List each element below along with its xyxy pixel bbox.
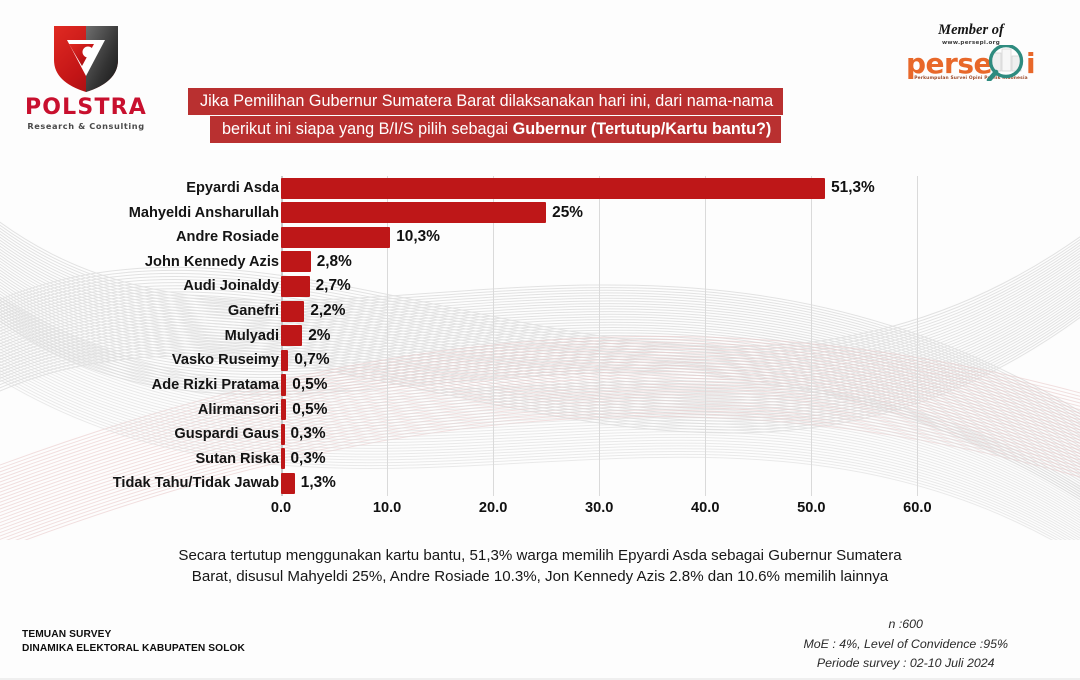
bar-row[interactable]: Tidak Tahu/Tidak Jawab1,3%	[281, 471, 981, 496]
persepi-logo-icon: perse i	[882, 45, 1060, 81]
bar-value-label: 0,5%	[292, 373, 327, 398]
summary-line-2: Barat, disusul Mahyeldi 25%, Andre Rosia…	[0, 566, 1080, 587]
bar-value-label: 0,5%	[292, 398, 327, 423]
bar[interactable]	[281, 473, 295, 494]
x-axis-tick-label: 30.0	[585, 500, 613, 516]
category-label: Andre Rosiade	[19, 225, 279, 250]
x-axis-tick-label: 60.0	[903, 500, 931, 516]
footer-margin-of-error: MoE : 4%, Level of Convidence :95%	[803, 635, 1008, 655]
footer-survey-title: TEMUAN SURVEY DINAMIKA ELEKTORAL KABUPAT…	[22, 628, 245, 657]
bar[interactable]	[281, 325, 302, 346]
persepi-member-badge: Member of www.persepi.org perse i Perkum…	[882, 22, 1060, 81]
bar[interactable]	[281, 276, 310, 297]
category-label: Mulyadi	[19, 324, 279, 349]
bar-row[interactable]: Sutan Riska0,3%	[281, 447, 981, 472]
bar-row[interactable]: Andre Rosiade10,3%	[281, 225, 981, 250]
bar-value-label: 2,7%	[316, 274, 351, 299]
bar[interactable]	[281, 202, 546, 223]
bar-row[interactable]: Mulyadi2%	[281, 324, 981, 349]
bar[interactable]	[281, 424, 285, 445]
member-of-label: Member of	[882, 22, 1060, 39]
x-axis-tick-label: 0.0	[271, 500, 291, 516]
category-label: Guspardi Gaus	[19, 422, 279, 447]
x-axis: 0.010.020.030.040.050.060.0	[281, 496, 981, 526]
footer-survey-title-line-1: TEMUAN SURVEY	[22, 628, 245, 642]
bar[interactable]	[281, 178, 825, 199]
bar-row[interactable]: Mahyeldi Ansharullah25%	[281, 201, 981, 226]
bar-value-label: 2%	[308, 324, 330, 349]
chart-title-banner: Jika Pemilihan Gubernur Sumatera Barat d…	[188, 88, 900, 143]
footer-survey-title-line-2: DINAMIKA ELEKTORAL KABUPATEN SOLOK	[22, 642, 245, 656]
title-line-2: berikut ini siapa yang B/I/S pilih sebag…	[210, 116, 781, 143]
category-label: John Kennedy Azis	[19, 250, 279, 275]
bar-value-label: 51,3%	[831, 176, 875, 201]
polstra-logo: POLSTRA Research & Consulting	[22, 18, 150, 126]
x-axis-tick-label: 50.0	[797, 500, 825, 516]
bar-value-label: 0,7%	[294, 348, 329, 373]
footer-survey-period: Periode survey : 02-10 Juli 2024	[803, 654, 1008, 674]
bar[interactable]	[281, 301, 304, 322]
x-axis-tick-label: 10.0	[373, 500, 401, 516]
bar-row[interactable]: Vasko Ruseimy0,7%	[281, 348, 981, 373]
category-label: Vasko Ruseimy	[19, 348, 279, 373]
bar-value-label: 25%	[552, 201, 583, 226]
bar-value-label: 0,3%	[291, 422, 326, 447]
bar-row[interactable]: Ganefri2,2%	[281, 299, 981, 324]
bar-row[interactable]: Guspardi Gaus0,3%	[281, 422, 981, 447]
bar[interactable]	[281, 251, 311, 272]
bar-row[interactable]: John Kennedy Azis2,8%	[281, 250, 981, 275]
category-label: Audi Joinaldy	[19, 274, 279, 299]
footer-sample-size: n :600	[803, 615, 1008, 635]
bar[interactable]	[281, 227, 390, 248]
bar-value-label: 2,8%	[317, 250, 352, 275]
bar-row[interactable]: Epyardi Asda51,3%	[281, 176, 981, 201]
bar-value-label: 10,3%	[396, 225, 440, 250]
category-label: Ade Rizki Pratama	[19, 373, 279, 398]
bar[interactable]	[281, 448, 285, 469]
bar-chart: Epyardi Asda51,3%Mahyeldi Ansharullah25%…	[0, 160, 1080, 540]
category-label: Ganefri	[19, 299, 279, 324]
category-label: Sutan Riska	[19, 447, 279, 472]
summary-caption: Secara tertutup menggunakan kartu bantu,…	[0, 545, 1080, 588]
category-label: Mahyeldi Ansharullah	[19, 201, 279, 226]
bar-row[interactable]: Ade Rizki Pratama0,5%	[281, 373, 981, 398]
bar[interactable]	[281, 399, 286, 420]
bar-row[interactable]: Audi Joinaldy2,7%	[281, 274, 981, 299]
infographic-slide: POLSTRA Research & Consulting Member of …	[0, 0, 1080, 680]
polstra-logo-wordmark: POLSTRA	[22, 97, 150, 119]
polstra-logo-tagline: Research & Consulting	[22, 121, 150, 131]
bar-value-label: 2,2%	[310, 299, 345, 324]
bar-row[interactable]: Alirmansori0,5%	[281, 398, 981, 423]
title-line-2-text: berikut ini siapa yang B/I/S pilih sebag…	[222, 120, 513, 138]
x-axis-tick-label: 40.0	[691, 500, 719, 516]
title-line-2-emphasis: Gubernur (Tertutup/Kartu bantu?)	[513, 120, 772, 138]
polstra-shield-icon	[22, 18, 150, 96]
bar[interactable]	[281, 374, 286, 395]
bar-value-label: 1,3%	[301, 471, 336, 496]
footer: TEMUAN SURVEY DINAMIKA ELEKTORAL KABUPAT…	[0, 612, 1080, 680]
svg-text:i: i	[1026, 47, 1036, 80]
footer-methodology: n :600 MoE : 4%, Level of Convidence :95…	[803, 615, 1008, 674]
svg-text:perse: perse	[906, 47, 992, 80]
plot-area: Epyardi Asda51,3%Mahyeldi Ansharullah25%…	[281, 176, 981, 496]
bar[interactable]	[281, 350, 288, 371]
category-label: Alirmansori	[19, 398, 279, 423]
summary-line-1: Secara tertutup menggunakan kartu bantu,…	[0, 545, 1080, 566]
title-line-1: Jika Pemilihan Gubernur Sumatera Barat d…	[188, 88, 783, 115]
x-axis-tick-label: 20.0	[479, 500, 507, 516]
bar-value-label: 0,3%	[291, 447, 326, 472]
category-label: Tidak Tahu/Tidak Jawab	[19, 471, 279, 496]
category-label: Epyardi Asda	[19, 176, 279, 201]
